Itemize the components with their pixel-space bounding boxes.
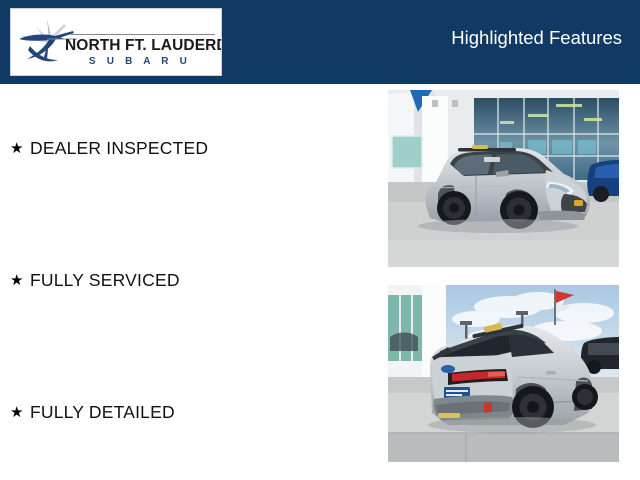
star-bullet-icon: ★ xyxy=(10,405,30,420)
list-item: ★ DEALER INSPECTED xyxy=(10,138,208,159)
dealer-logo[interactable]: NORTH FT. LAUDERDALE S U B A R U xyxy=(10,8,222,76)
feature-label: FULLY SERVICED xyxy=(30,270,180,291)
highlighted-features-list: ★ DEALER INSPECTED ★ FULLY SERVICED ★ FU… xyxy=(0,84,380,480)
page-header: NORTH FT. LAUDERDALE S U B A R U Highlig… xyxy=(0,0,640,84)
feature-label: FULLY DETAILED xyxy=(30,402,175,423)
logo-dealer-name: NORTH FT. LAUDERDALE xyxy=(65,37,219,55)
logo-brand-name: S U B A R U xyxy=(65,56,215,67)
vehicle-photo-rear[interactable] xyxy=(388,285,619,462)
list-item: ★ FULLY SERVICED xyxy=(10,270,180,291)
list-item: ★ FULLY DETAILED xyxy=(10,402,175,423)
page-title: Highlighted Features xyxy=(451,27,622,49)
vehicle-photo-front[interactable] xyxy=(388,90,619,267)
feature-label: DEALER INSPECTED xyxy=(30,138,208,159)
logo-divider-rule xyxy=(71,34,215,35)
star-bullet-icon: ★ xyxy=(10,141,30,156)
star-bullet-icon: ★ xyxy=(10,273,30,288)
